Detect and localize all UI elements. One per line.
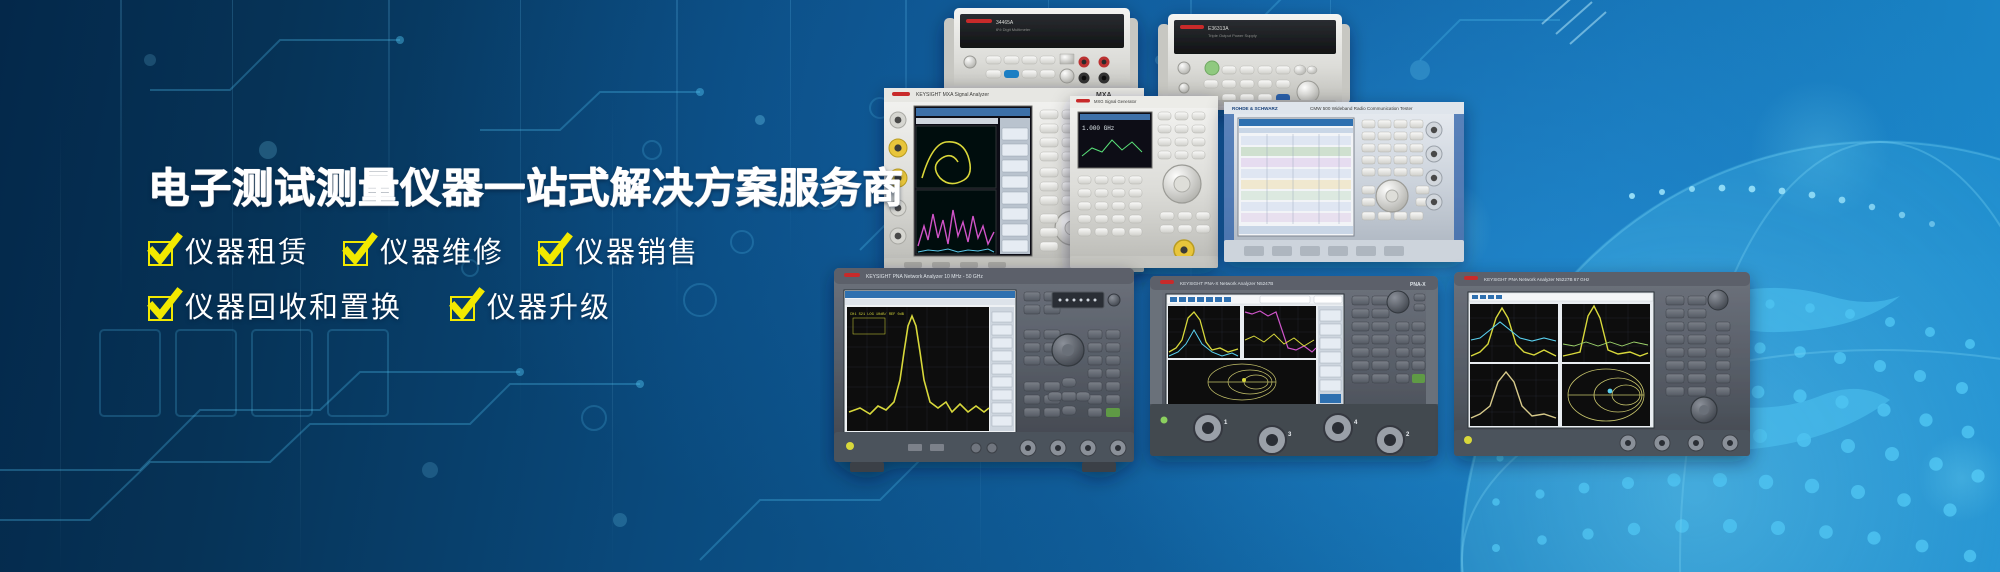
feature-label: 仪器升级 [487, 294, 611, 323]
checkbox-checked-icon [450, 296, 475, 321]
svg-text:6½ Digit Multimeter: 6½ Digit Multimeter [996, 27, 1031, 32]
page-title: 电子测试测量仪器一站式解决方案服务商 [148, 168, 904, 209]
instrument-network-analyzer-right: KEYSIGHT PNA Network Analyzer N5227B 67 … [1454, 272, 1750, 456]
feature-item-instrument-repair[interactable]: 仪器维修 [343, 239, 504, 268]
instrument-signal-generator-mxg: MXG Signal Generator 1.000 GHz [1070, 96, 1218, 268]
feature-item-instrument-upgrade[interactable]: 仪器升级 [450, 294, 611, 323]
instrument-power-supply-top-right: E36313A Triple Output Power Supply [1158, 14, 1350, 110]
feature-item-instrument-sales[interactable]: 仪器销售 [538, 239, 699, 268]
checkbox-checked-icon [148, 241, 173, 266]
svg-text:MXG Signal Generator: MXG Signal Generator [1094, 99, 1137, 104]
svg-text:KEYSIGHT PNA-X Network Analy: KEYSIGHT PNA-X Network Analyzer N5247B [1180, 281, 1273, 286]
hero-banner: 34465A 6½ Digit Multimeter [0, 0, 2000, 572]
feature-label: 仪器租赁 [185, 239, 309, 268]
instrument-photo-cluster: 34465A 6½ Digit Multimeter [820, 0, 2000, 572]
feature-item-instrument-rental[interactable]: 仪器租赁 [148, 239, 309, 268]
svg-text:Triple Output Power Supply: Triple Output Power Supply [1208, 33, 1257, 38]
svg-text:KEYSIGHT MXA Signal Analyzer: KEYSIGHT MXA Signal Analyzer [916, 92, 989, 98]
svg-text:PNA-X: PNA-X [1410, 282, 1426, 288]
svg-text:ROHDE & SCHWARZ: ROHDE & SCHWARZ [1232, 106, 1278, 111]
feature-row-1: 仪器租赁 仪器维修 仪器销售 [148, 239, 904, 268]
feature-row-2: 仪器回收和置换 仪器升级 [148, 294, 904, 323]
svg-text:CMW 500 Wideband Radio Commun: CMW 500 Wideband Radio Communication Tes… [1310, 106, 1413, 111]
instrument-network-analyzer-center: KEYSIGHT PNA-X Network Analyzer N5247B P… [1150, 276, 1438, 456]
checkbox-checked-icon [148, 296, 173, 321]
feature-list: 仪器租赁 仪器维修 仪器销售 [148, 239, 904, 323]
instrument-radio-comm-tester: ROHDE & SCHWARZ CMW 500 Wideband Radio C… [1224, 102, 1464, 262]
svg-text:34465A: 34465A [996, 20, 1014, 26]
feature-item-instrument-recycle-exchange[interactable]: 仪器回收和置换 [148, 294, 402, 323]
svg-text:1.000 GHz: 1.000 GHz [1082, 125, 1115, 132]
banner-copy: 电子测试测量仪器一站式解决方案服务商 仪器租赁 [148, 168, 904, 323]
svg-text:E36313A: E36313A [1208, 26, 1229, 32]
svg-text:KEYSIGHT PNA Network Analyze: KEYSIGHT PNA Network Analyzer N5227B 67 … [1484, 277, 1590, 282]
feature-label: 仪器回收和置换 [185, 294, 402, 323]
checkbox-checked-icon [538, 241, 563, 266]
feature-label: 仪器维修 [380, 239, 504, 268]
feature-label: 仪器销售 [575, 239, 699, 268]
checkbox-checked-icon [343, 241, 368, 266]
